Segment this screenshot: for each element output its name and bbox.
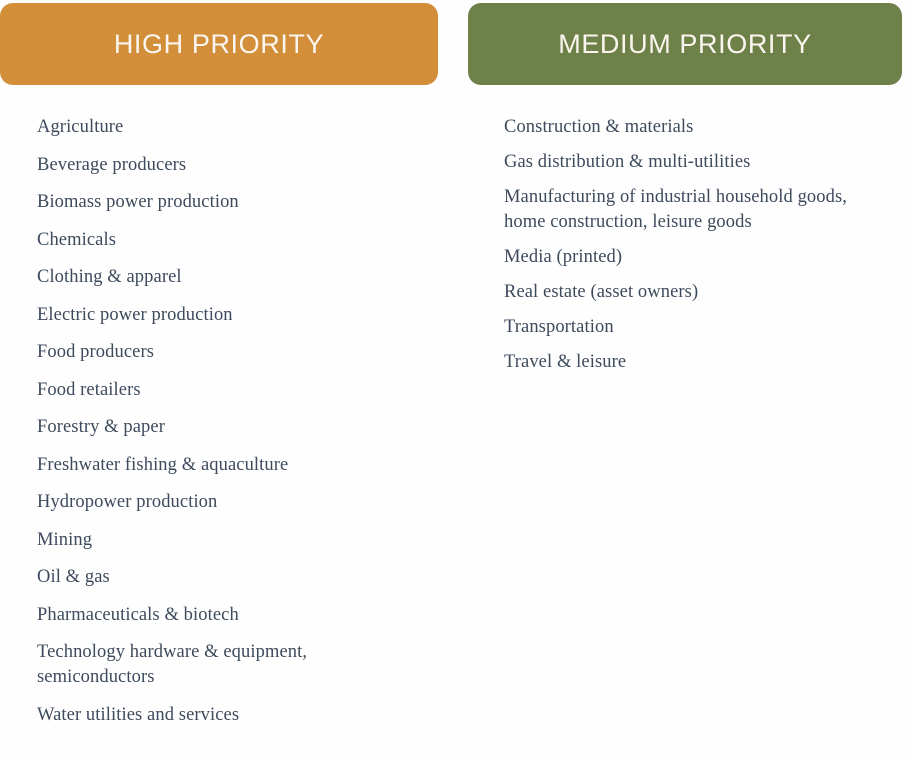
- list-item: Construction & materials: [504, 115, 902, 140]
- list-item: Travel & leisure: [504, 350, 902, 375]
- list-item: Oil & gas: [37, 565, 438, 590]
- list-item: Manufacturing of industrial household go…: [504, 185, 879, 235]
- high-priority-column: HIGH PRIORITY Agriculture Beverage produ…: [0, 0, 438, 740]
- list-item: Beverage producers: [37, 153, 438, 178]
- list-item: Hydropower production: [37, 490, 438, 515]
- medium-priority-header-label: MEDIUM PRIORITY: [558, 29, 812, 60]
- medium-priority-list: Construction & materials Gas distributio…: [468, 85, 902, 375]
- list-item: Technology hardware & equipment, semicon…: [37, 640, 327, 690]
- high-priority-header: HIGH PRIORITY: [0, 3, 438, 85]
- list-item: Pharmaceuticals & biotech: [37, 603, 438, 628]
- list-item: Food producers: [37, 340, 438, 365]
- list-item: Clothing & apparel: [37, 265, 438, 290]
- medium-priority-column: MEDIUM PRIORITY Construction & materials…: [468, 0, 902, 385]
- list-item: Electric power production: [37, 303, 438, 328]
- medium-priority-header: MEDIUM PRIORITY: [468, 3, 902, 85]
- list-item: Transportation: [504, 315, 902, 340]
- list-item: Mining: [37, 528, 438, 553]
- list-item: Food retailers: [37, 378, 438, 403]
- list-item: Water utilities and services: [37, 703, 438, 728]
- high-priority-header-label: HIGH PRIORITY: [114, 29, 324, 60]
- list-item: Freshwater fishing & aquaculture: [37, 453, 438, 478]
- high-priority-list: Agriculture Beverage producers Biomass p…: [0, 85, 438, 728]
- list-item: Biomass power production: [37, 190, 438, 215]
- list-item: Real estate (asset owners): [504, 280, 902, 305]
- list-item: Gas distribution & multi-utilities: [504, 150, 902, 175]
- list-item: Agriculture: [37, 115, 438, 140]
- list-item: Media (printed): [504, 245, 902, 270]
- list-item: Forestry & paper: [37, 415, 438, 440]
- priority-board: HIGH PRIORITY Agriculture Beverage produ…: [0, 0, 912, 758]
- list-item: Chemicals: [37, 228, 438, 253]
